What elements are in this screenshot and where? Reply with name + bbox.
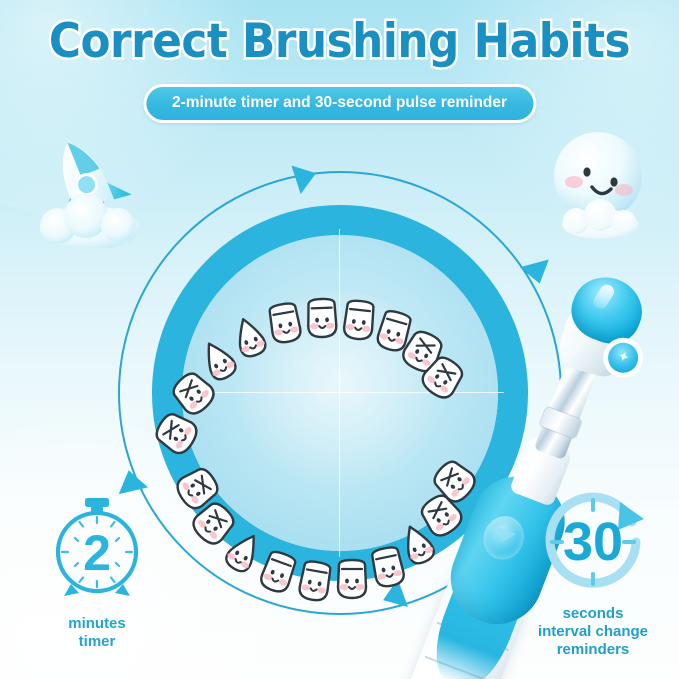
header: Correct Brushing Habits xyxy=(0,14,679,70)
interval-label: seconds interval change reminders xyxy=(510,605,676,659)
timer-value: 2 xyxy=(83,525,111,581)
page-title: Correct Brushing Habits xyxy=(49,14,630,70)
circular-arrow-icon: 30 xyxy=(528,486,658,594)
stopwatch-icon: 2 xyxy=(38,492,156,604)
timer-label: minutes timer xyxy=(12,615,182,651)
interval-value: 30 xyxy=(563,512,623,572)
product-infographic: Correct Brushing Habits 2-minute timer a… xyxy=(0,0,679,679)
interval-badge: 30 seconds interval change reminders xyxy=(510,486,676,659)
timer-badge: 2 minutes timer xyxy=(12,492,182,651)
subtitle-badge: 2-minute timer and 30-second pulse remin… xyxy=(143,84,536,123)
